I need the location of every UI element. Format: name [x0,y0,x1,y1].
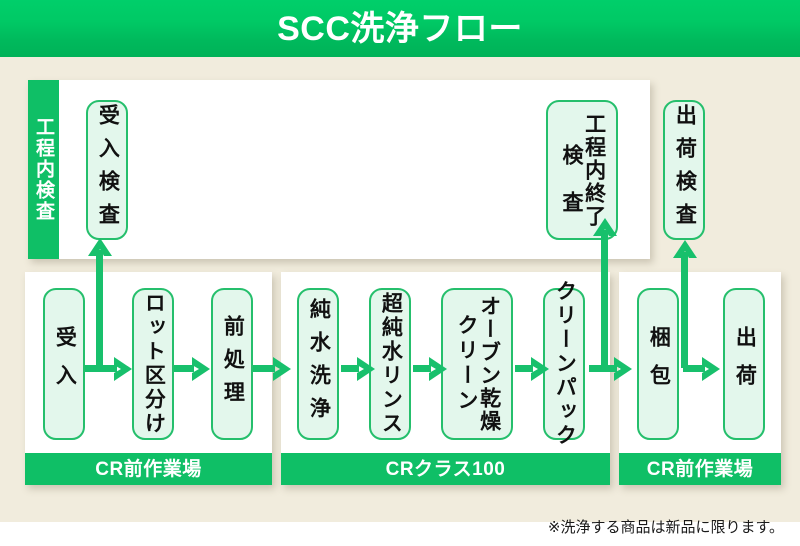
group-footer-cr-class-100-label: CRクラス100 [386,460,506,479]
box-process-end-inspection-label-col1: 工程内終了 [582,113,605,228]
box-shipping-inspection-label: 出荷検査 [673,104,696,236]
box-lot-sorting-label: ロット区分け [142,292,165,436]
footnote: ※洗浄する商品は新品に限ります。 [548,516,784,537]
arrow-lot-to-pretreatment [190,354,214,384]
arrow-cleanpack-to-packaging [612,354,636,384]
box-receiving-inspection[interactable]: 受入検査 [86,100,128,240]
page-title-bar: SCC洗浄フロー [0,0,800,57]
box-shipping[interactable]: 出荷 [723,288,765,440]
arrow-packaging-to-shipping [700,354,724,384]
inspection-panel: 工程内検査 受入検査 工程内終了 検査 [28,80,650,259]
box-packaging-label: 梱包 [647,326,670,402]
flow-diagram-page: SCC洗浄フロー 工程内検査 受入検査 工程内終了 検査 出荷検査 受入 ロット… [0,0,800,546]
arrow-receiving-to-lot [112,354,136,384]
inspection-panel-tab: 工程内検査 [28,80,59,259]
box-receiving[interactable]: 受入 [43,288,85,440]
group-footer-pre-cr-2-label: CR前作業場 [647,460,753,479]
arrow-purewater-to-rinse [355,354,379,384]
box-clean-oven-drying[interactable]: オーブン乾燥 クリーン [441,288,513,440]
box-clean-pack-label: クリーンパック [553,280,576,448]
arrow-pretreatment-to-purewater [271,354,295,384]
page-title: SCC洗浄フロー [277,12,523,46]
box-ultrapure-water-rinse-label: 超純水リンス [379,292,402,436]
box-process-end-inspection-label-col2: 検査 [559,144,582,238]
box-pure-water-cleaning-label: 純水洗浄 [307,298,330,430]
box-pre-treatment-label: 前処理 [221,315,244,414]
group-footer-cr-class-100: CRクラス100 [281,453,610,485]
box-clean-oven-drying-label-col2: クリーン [454,314,477,414]
connector-up-process-end-inspection [601,230,608,368]
box-pre-treatment[interactable]: 前処理 [211,288,253,440]
connector-up-receiving-inspection [96,250,103,368]
arrow-rinse-to-oven [427,354,451,384]
group-footer-pre-cr-1: CR前作業場 [25,453,272,485]
box-receiving-label: 受入 [53,326,76,402]
group-footer-pre-cr-2: CR前作業場 [619,453,781,485]
box-pure-water-cleaning[interactable]: 純水洗浄 [297,288,339,440]
arrow-up-process-end-inspection [590,216,620,240]
box-shipping-inspection[interactable]: 出荷検査 [663,100,705,240]
group-pre-cr-workshop-1: 受入 ロット区分け 前処理 CR前作業場 [25,272,272,485]
arrow-up-receiving-inspection [85,236,115,260]
group-footer-pre-cr-1-label: CR前作業場 [95,460,201,479]
arrow-oven-to-cleanpack [529,354,553,384]
connector-up-shipping-inspection [681,252,688,368]
box-lot-sorting[interactable]: ロット区分け [132,288,174,440]
box-clean-oven-drying-label-col1: オーブン乾燥 [477,295,500,433]
arrow-up-shipping-inspection [670,238,700,262]
box-packaging[interactable]: 梱包 [637,288,679,440]
box-shipping-label: 出荷 [733,326,756,402]
inspection-tab-label: 工程内検査 [34,117,53,222]
box-receiving-inspection-label: 受入検査 [96,104,119,236]
